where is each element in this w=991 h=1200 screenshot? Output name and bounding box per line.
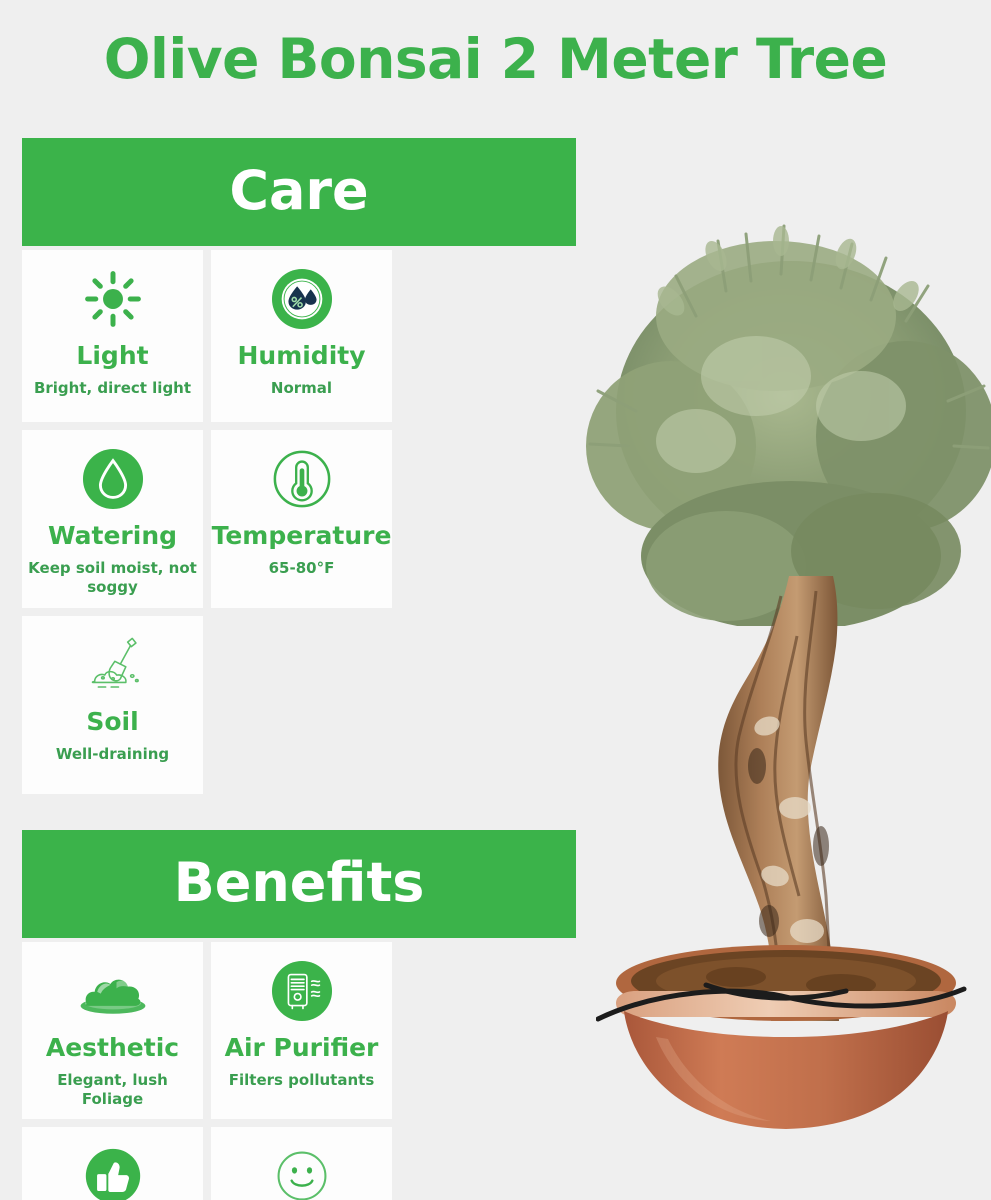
- info-columns: Care: [22, 138, 576, 1200]
- thermometer-icon: [271, 442, 333, 516]
- humidity-icon: [271, 262, 333, 336]
- benefit-card-title: Aesthetic: [46, 1034, 179, 1062]
- care-card-soil[interactable]: Soil Well-draining: [22, 616, 203, 794]
- smiley-icon: [272, 1139, 332, 1200]
- benefit-card-desc: Elegant, lush Foliage: [28, 1071, 197, 1109]
- care-card-title: Humidity: [237, 342, 365, 370]
- care-card-watering[interactable]: Watering Keep soil moist, not soggy: [22, 430, 203, 608]
- air-purifier-icon: [271, 954, 333, 1028]
- care-card-desc: Well-draining: [56, 745, 169, 764]
- shovel-soil-icon: [80, 628, 146, 702]
- care-card-humidity[interactable]: Humidity Normal: [211, 250, 392, 422]
- bush-icon: [78, 954, 148, 1028]
- benefit-card-aesthetic[interactable]: Aesthetic Elegant, lush Foliage: [22, 942, 203, 1119]
- thumbs-up-icon: [83, 1139, 143, 1200]
- care-card-desc: Keep soil moist, not soggy: [28, 559, 197, 597]
- benefits-card-grid: Aesthetic Elegant, lush Foliage: [22, 942, 576, 1200]
- benefit-card-low-maintenance[interactable]: Low Maintenance Easy Care: [22, 1127, 203, 1200]
- benefit-card-title: Air Purifier: [225, 1034, 379, 1062]
- benefit-card-air-purifier[interactable]: Air Purifier Filters pollutants: [211, 942, 392, 1119]
- care-card-title: Temperature: [212, 522, 392, 550]
- benefit-card-desc: Filters pollutants: [229, 1071, 375, 1090]
- care-section-banner: Care: [22, 138, 576, 246]
- product-image-olive-bonsai: [576, 196, 991, 1126]
- benefits-section-banner: Benefits: [22, 830, 576, 938]
- care-card-desc: 65-80°F: [269, 559, 335, 578]
- care-card-title: Watering: [48, 522, 177, 550]
- care-card-light[interactable]: Light Bright, direct light: [22, 250, 203, 422]
- care-card-grid: Light Bright, direct light: [22, 250, 576, 794]
- care-card-title: Light: [76, 342, 148, 370]
- canopy-foliage: [576, 196, 991, 626]
- care-card-desc: Bright, direct light: [34, 379, 191, 398]
- terracotta-pot: [596, 941, 976, 1151]
- care-card-title: Soil: [86, 708, 138, 736]
- water-drop-icon: [82, 442, 144, 516]
- care-card-desc: Normal: [271, 379, 332, 398]
- care-card-temperature[interactable]: Temperature 65-80°F: [211, 430, 392, 608]
- page-title: Olive Bonsai 2 Meter Tree: [0, 27, 991, 91]
- benefit-card-mood-boost[interactable]: Mood Boost Tropical ambiance: [211, 1127, 392, 1200]
- infographic-page: Olive Bonsai 2 Meter Tree Care: [0, 0, 991, 1200]
- sun-icon: [84, 262, 142, 336]
